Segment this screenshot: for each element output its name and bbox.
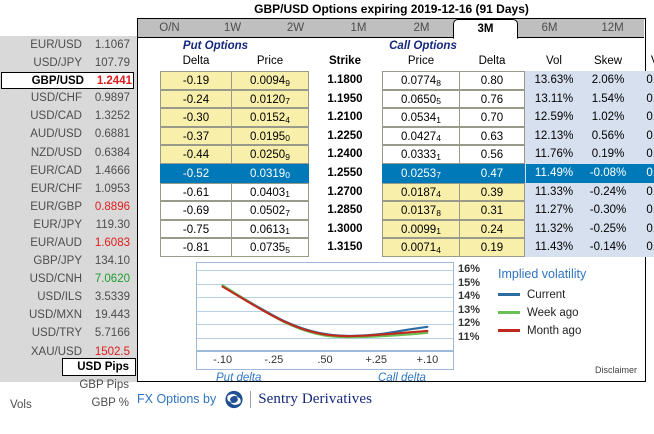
col-header-strike: Strike: [314, 55, 376, 67]
cell-vol[interactable]: 11.32%: [526, 220, 582, 239]
rate-row-usd-jpy[interactable]: USD/JPY107.79: [0, 54, 137, 72]
tab-1w[interactable]: 1W: [201, 19, 264, 37]
cell-skew[interactable]: -0.08%: [579, 164, 637, 183]
chart-y-axis: 16%15%14%13%12%11%: [458, 262, 488, 354]
tab-3m[interactable]: 3M: [453, 19, 518, 39]
price-subdigit: 0: [285, 170, 290, 180]
cell-call-delta[interactable]: 0.31: [459, 201, 525, 220]
tab-12m[interactable]: 12M: [581, 19, 644, 37]
cell-vega[interactable]: 0.0017: [635, 238, 654, 257]
price-subdigit: 4: [436, 133, 441, 143]
cell-put-delta[interactable]: -0.52: [160, 164, 232, 183]
legend-item-month-ago[interactable]: Month ago: [498, 322, 638, 339]
table-row: -0.690.050271.28500.013780.3111.27%-0.30…: [138, 201, 644, 220]
cell-vega[interactable]: 0.0024: [635, 183, 654, 202]
disclaimer-link[interactable]: Disclaimer: [595, 365, 637, 375]
rate-row-gbp-usd[interactable]: GBP/USD1.2441: [1, 72, 134, 89]
cell-vol[interactable]: 11.43%: [526, 238, 582, 257]
price-subdigit: 9: [285, 78, 290, 88]
cell-call-delta[interactable]: 0.56: [459, 145, 525, 164]
price-subdigit: 4: [436, 245, 441, 255]
tab-1m[interactable]: 1M: [327, 19, 390, 37]
cell-put-delta[interactable]: -0.75: [160, 220, 232, 239]
col-header-vega: Vega: [635, 55, 654, 67]
rate-pair-label: GBP/JPY: [8, 255, 82, 267]
rate-row-eur-jpy[interactable]: EUR/JPY119.30: [0, 216, 137, 234]
cell-put-price[interactable]: 0.06131: [231, 220, 309, 239]
cell-vol[interactable]: 11.76%: [526, 145, 582, 164]
cell-put-delta[interactable]: -0.24: [160, 90, 232, 109]
options-grid: -0.190.009491.18000.077480.8013.63%2.06%…: [138, 71, 644, 257]
cell-call-delta[interactable]: 0.19: [459, 238, 525, 257]
cell-put-price[interactable]: 0.02509: [231, 145, 309, 164]
rate-pair-label: USD/ILS: [8, 291, 82, 303]
cell-call-price[interactable]: 0.00714: [382, 238, 460, 257]
call-delta-axis-label: Call delta: [378, 372, 426, 384]
unit-option-gbppips[interactable]: GBP Pips: [0, 376, 137, 395]
rate-pair-label: EUR/CAD: [8, 165, 82, 177]
legend-item-week-ago[interactable]: Week ago: [498, 304, 638, 321]
legend-label: Current: [527, 289, 565, 301]
price-subdigit: 1: [436, 152, 441, 162]
cell-skew[interactable]: -0.24%: [579, 183, 637, 202]
cell-put-delta[interactable]: -0.37: [160, 127, 232, 146]
rate-row-usd-mxn[interactable]: USD/MXN19.443: [0, 306, 137, 324]
cell-strike[interactable]: 1.3000: [314, 220, 376, 239]
cell-call-price[interactable]: 0.07748: [382, 71, 460, 90]
cell-put-price[interactable]: 0.01207: [231, 90, 309, 109]
rate-row-eur-gbp[interactable]: EUR/GBP0.8896: [0, 198, 137, 216]
cell-vol[interactable]: 13.11%: [526, 90, 582, 109]
legend-color-swatch: [498, 311, 520, 315]
table-row: -0.370.019501.22500.042740.6312.13%0.56%…: [138, 127, 644, 146]
cell-put-delta[interactable]: -0.44: [160, 145, 232, 164]
rate-value: 0.6384: [86, 147, 130, 159]
rate-row-usd-chf[interactable]: USD/CHF0.9897: [0, 89, 137, 107]
rate-pair-label: EUR/USD: [8, 39, 82, 51]
cell-call-delta[interactable]: 0.76: [459, 90, 525, 109]
cell-put-delta[interactable]: -0.19: [160, 71, 232, 90]
rate-row-eur-cad[interactable]: EUR/CAD1.4666: [0, 162, 137, 180]
rate-pair-label: USD/MXN: [8, 309, 82, 321]
cell-skew[interactable]: 0.56%: [579, 127, 637, 146]
chart-series-month-ago: [223, 287, 428, 337]
cell-put-price[interactable]: 0.03190: [231, 164, 309, 183]
cell-skew[interactable]: -0.14%: [579, 238, 637, 257]
rate-pair-label: EUR/JPY: [8, 219, 82, 231]
cell-put-price[interactable]: 0.05027: [231, 201, 309, 220]
cell-call-delta[interactable]: 0.39: [459, 183, 525, 202]
col-header-call-delta: Delta: [459, 55, 525, 67]
cell-skew[interactable]: 2.06%: [579, 71, 637, 90]
rate-row-usd-ils[interactable]: USD/ILS3.5339: [0, 288, 137, 306]
brand-name: Sentry Derivatives: [258, 391, 372, 408]
cell-strike[interactable]: 1.1800: [314, 71, 376, 90]
price-subdigit: 1: [285, 226, 290, 236]
price-subdigit: 1: [436, 115, 441, 125]
y-tick-label: 12%: [458, 317, 480, 329]
price-subdigit: 7: [436, 170, 441, 180]
rate-value: 0.6881: [86, 128, 130, 140]
cell-vega[interactable]: 0.0019: [635, 90, 654, 109]
cell-call-delta[interactable]: 0.24: [459, 220, 525, 239]
price-subdigit: 8: [436, 208, 441, 218]
tab-on[interactable]: O/N: [138, 19, 201, 37]
x-tick-label: -.25: [254, 354, 294, 366]
rate-value: 5.7166: [86, 327, 130, 339]
price-subdigit: 8: [436, 78, 441, 88]
rate-row-usd-cad[interactable]: USD/CAD1.3252: [0, 107, 137, 125]
rate-pair-label: EUR/GBP: [8, 201, 82, 213]
footer: FX Options by Sentry Derivatives: [137, 388, 646, 410]
cell-skew[interactable]: 1.54%: [579, 90, 637, 109]
cell-put-price[interactable]: 0.01950: [231, 127, 309, 146]
price-subdigit: 7: [285, 208, 290, 218]
table-row: -0.440.025091.24000.033310.5611.76%0.19%…: [138, 145, 644, 164]
rate-pair-label: AUD/USD: [8, 128, 82, 140]
price-subdigit: 4: [285, 115, 290, 125]
cell-put-price[interactable]: 0.01524: [231, 108, 309, 127]
col-header-vol: Vol: [526, 55, 582, 67]
price-subdigit: 5: [436, 96, 441, 106]
footer-prefix: FX Options by: [137, 392, 216, 406]
put-options-heading: Put Options: [143, 40, 288, 52]
rate-pair-label: USD/CAD: [8, 110, 82, 122]
x-tick-label: +.10: [407, 354, 447, 366]
tab-6m[interactable]: 6M: [518, 19, 581, 37]
rate-row-usd-cnh[interactable]: USD/CNH7.0620: [0, 270, 137, 288]
tenor-tabstrip: O/N1W2W1M2M3M6M12M: [138, 19, 644, 38]
cell-skew[interactable]: -0.30%: [579, 201, 637, 220]
legend-title: Implied volatility: [498, 267, 638, 282]
unit-label: GBP %: [92, 397, 130, 409]
rate-pair-label: USD/CHF: [8, 92, 82, 104]
cell-put-price[interactable]: 0.04031: [231, 183, 309, 202]
rate-row-aud-usd[interactable]: AUD/USD0.6881: [0, 125, 137, 143]
table-row: -0.750.061311.30000.009910.2411.32%-0.25…: [138, 220, 644, 239]
unit-selector: Vols USD PipsGBP PipsGBP %: [0, 358, 137, 413]
cell-vega[interactable]: 0.0023: [635, 127, 654, 146]
rate-value: 1.3252: [86, 110, 130, 122]
rate-row-nzd-usd[interactable]: NZD/USD0.6384: [0, 143, 137, 161]
rate-row-usd-try[interactable]: USD/TRY5.7166: [0, 324, 137, 342]
col-header-put-price: Price: [231, 55, 309, 67]
cell-call-price[interactable]: 0.04274: [382, 127, 460, 146]
volatility-chart: [196, 262, 454, 351]
legend-label: Month ago: [527, 325, 581, 337]
chart-lines: [197, 263, 453, 350]
x-tick-label: -.10: [203, 354, 243, 366]
rate-value: 7.0620: [86, 273, 130, 285]
rate-list: EUR/USD1.1067USD/JPY107.79GBP/USD1.2441U…: [0, 36, 137, 361]
cell-call-price[interactable]: 0.02537: [382, 164, 460, 183]
unit-option-usdpips[interactable]: USD Pips: [62, 358, 136, 376]
col-header-put-delta: Delta: [160, 55, 232, 67]
y-tick-label: 16%: [458, 263, 480, 275]
rate-pair-label: EUR/CHF: [8, 183, 82, 195]
unit-label: GBP Pips: [79, 379, 129, 391]
column-headers: Delta Price Strike Price Delta Vol Skew …: [138, 55, 644, 70]
y-tick-label: 15%: [458, 277, 480, 289]
legend-color-swatch: [498, 293, 520, 297]
chart-series-week-ago: [223, 285, 428, 337]
cell-vol[interactable]: 12.13%: [526, 127, 582, 146]
cell-vol[interactable]: 12.59%: [526, 108, 582, 127]
table-row: -0.240.012071.19500.065050.7613.11%1.54%…: [138, 90, 644, 109]
rate-value: 0.9897: [86, 92, 130, 104]
price-subdigit: 0: [285, 133, 290, 143]
cell-call-price[interactable]: 0.03331: [382, 145, 460, 164]
x-tick-label: +.25: [356, 354, 396, 366]
cell-put-price[interactable]: 0.00949: [231, 71, 309, 90]
table-row: -0.190.009491.18000.077480.8013.63%2.06%…: [138, 71, 644, 90]
cell-strike[interactable]: 1.1950: [314, 90, 376, 109]
cell-strike[interactable]: 1.2400: [314, 145, 376, 164]
cell-call-price[interactable]: 0.01378: [382, 201, 460, 220]
chart-series-current: [223, 286, 428, 336]
rate-row-eur-aud[interactable]: EUR/AUD1.6083: [0, 234, 137, 252]
rate-value: 3.5339: [86, 291, 130, 303]
rate-value: 0.8896: [86, 201, 130, 213]
rate-row-gbp-jpy[interactable]: GBP/JPY134.10: [0, 252, 137, 270]
cell-strike[interactable]: 1.2550: [314, 164, 376, 183]
y-tick-label: 14%: [458, 290, 480, 302]
chart-x-axis: -.10-.25.50+.25+.10: [196, 351, 454, 370]
cell-skew[interactable]: 0.19%: [579, 145, 637, 164]
cell-call-delta[interactable]: 0.47: [459, 164, 525, 183]
legend-item-current[interactable]: Current: [498, 286, 638, 303]
price-subdigit: 1: [285, 189, 290, 199]
cell-vol[interactable]: 11.27%: [526, 201, 582, 220]
cell-vol[interactable]: 11.49%: [526, 164, 582, 183]
price-subdigit: 4: [436, 189, 441, 199]
rate-pair-label: GBP/USD: [10, 75, 84, 87]
rate-row-eur-usd[interactable]: EUR/USD1.1067: [0, 36, 137, 54]
rate-pair-label: USD/JPY: [8, 57, 82, 69]
rate-value: 1.1067: [86, 39, 130, 51]
legend-label: Week ago: [527, 307, 579, 319]
cell-strike[interactable]: 1.2100: [314, 108, 376, 127]
cell-vega[interactable]: 0.0022: [635, 108, 654, 127]
footer-divider: [250, 391, 251, 408]
swirl-logo-icon: [221, 390, 247, 409]
cell-put-price[interactable]: 0.07355: [231, 238, 309, 257]
unit-label: USD Pips: [77, 361, 129, 373]
rate-pair-label: XAU/USD: [8, 346, 82, 358]
cell-put-delta[interactable]: -0.61: [160, 183, 232, 202]
price-subdigit: 5: [285, 245, 290, 255]
cell-call-price[interactable]: 0.01874: [382, 183, 460, 202]
legend-color-swatch: [498, 329, 520, 333]
group-headings: Put Options Call Options: [138, 40, 644, 54]
tab-2m[interactable]: 2M: [390, 19, 453, 37]
cell-vega[interactable]: 0.0017: [635, 71, 654, 90]
cell-put-delta[interactable]: -0.69: [160, 201, 232, 220]
x-tick-label: .50: [305, 354, 345, 366]
rate-value: 1.4666: [86, 165, 130, 177]
price-subdigit: 7: [285, 96, 290, 106]
table-row: -0.810.073551.31500.007140.1911.43%-0.14…: [138, 238, 644, 257]
currency-pair-sidebar: EUR/USD1.1067USD/JPY107.79GBP/USD1.2441U…: [0, 36, 137, 382]
cell-skew[interactable]: 1.02%: [579, 108, 637, 127]
unit-option-gbp[interactable]: GBP %: [0, 394, 137, 413]
rate-pair-label: EUR/AUD: [8, 237, 82, 249]
put-delta-axis-label: Put delta: [216, 372, 261, 384]
cell-strike[interactable]: 1.2850: [314, 201, 376, 220]
cell-skew[interactable]: -0.25%: [579, 220, 637, 239]
table-row: -0.520.031901.25500.025370.4711.49%-0.08…: [138, 164, 644, 183]
table-row: -0.610.040311.27000.018740.3911.33%-0.24…: [138, 183, 644, 202]
call-options-heading: Call Options: [353, 40, 493, 52]
rate-value: 1.6083: [86, 237, 130, 249]
rate-value: 107.79: [86, 57, 130, 69]
cell-vega[interactable]: 0.0022: [635, 201, 654, 220]
cell-call-price[interactable]: 0.06505: [382, 90, 460, 109]
cell-vega[interactable]: 0.0025: [635, 164, 654, 183]
col-header-skew: Skew: [579, 55, 637, 67]
rate-value: 19.443: [86, 309, 130, 321]
rate-value: 1.2441: [88, 75, 132, 87]
col-header-call-price: Price: [382, 55, 460, 67]
cell-vega[interactable]: 0.0024: [635, 145, 654, 164]
rate-value: 1502.5: [86, 346, 130, 358]
price-subdigit: 1: [436, 226, 441, 236]
cell-call-price[interactable]: 0.05341: [382, 108, 460, 127]
rate-pair-label: USD/CNH: [8, 273, 82, 285]
page-title: GBP/USD Options expiring 2019-12-16 (91 …: [137, 1, 646, 17]
table-row: -0.300.015241.21000.053410.7012.59%1.02%…: [138, 108, 644, 127]
rate-value: 119.30: [86, 219, 130, 231]
rate-row-eur-chf[interactable]: EUR/CHF1.0953: [0, 180, 137, 198]
y-tick-label: 13%: [458, 304, 480, 316]
cell-strike[interactable]: 1.2250: [314, 127, 376, 146]
y-tick-label: 11%: [458, 331, 479, 343]
tab-2w[interactable]: 2W: [264, 19, 327, 37]
chart-legend: Implied volatility CurrentWeek agoMonth …: [498, 267, 638, 339]
rate-value: 1.0953: [86, 183, 130, 195]
options-panel: O/N1W2W1M2M3M6M12M Put Options Call Opti…: [137, 18, 646, 382]
rate-pair-label: NZD/USD: [8, 147, 82, 159]
cell-strike[interactable]: 1.2700: [314, 183, 376, 202]
cell-put-delta[interactable]: -0.81: [160, 238, 232, 257]
cell-call-price[interactable]: 0.00991: [382, 220, 460, 239]
price-subdigit: 9: [285, 152, 290, 162]
cell-call-delta[interactable]: 0.63: [459, 127, 525, 146]
cell-call-delta[interactable]: 0.80: [459, 71, 525, 90]
cell-call-delta[interactable]: 0.70: [459, 108, 525, 127]
rate-value: 134.10: [86, 255, 130, 267]
cell-vol[interactable]: 11.33%: [526, 183, 582, 202]
cell-put-delta[interactable]: -0.30: [160, 108, 232, 127]
rate-pair-label: USD/TRY: [8, 327, 82, 339]
cell-strike[interactable]: 1.3150: [314, 238, 376, 257]
fx-options-dashboard: GBP/USD Options expiring 2019-12-16 (91 …: [0, 0, 654, 434]
cell-vol[interactable]: 13.63%: [526, 71, 582, 90]
cell-vega[interactable]: 0.0019: [635, 220, 654, 239]
